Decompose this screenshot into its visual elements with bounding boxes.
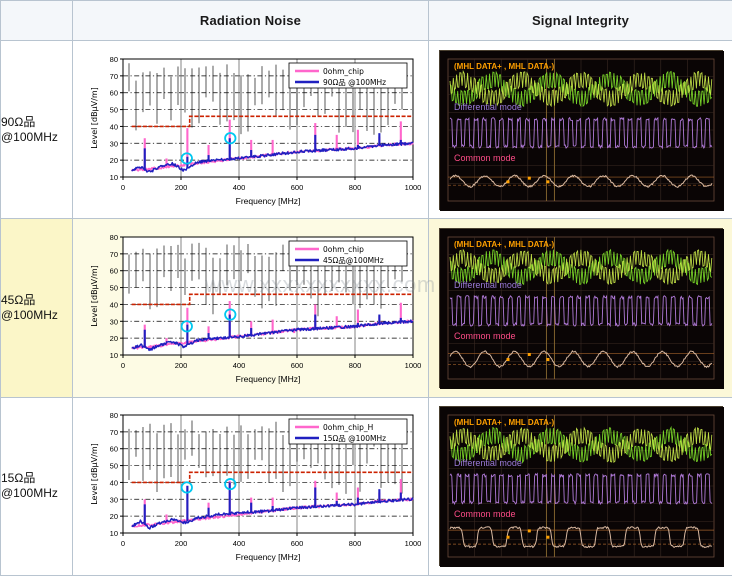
row-label-line1: 15Ω品 (1, 471, 72, 486)
x-tick-label: 800 (348, 539, 361, 548)
header-cell-radiation-noise: Radiation Noise (73, 1, 429, 41)
x-tick-label: 0 (120, 539, 124, 548)
chart-legend: 0ohm_chip_H15Ω品 @100MHz (289, 419, 407, 444)
row-label-45ohm: 45Ω品 @100MHz (1, 219, 73, 397)
chart-legend: 0ohm_chip90Ω品 @100MHz (289, 63, 407, 88)
x-tick-label: 400 (232, 539, 245, 548)
x-tick-label: 400 (232, 361, 245, 370)
x-tick-label: 1000 (404, 183, 420, 192)
y-tick-label: 50 (109, 105, 117, 114)
legend-label: 45Ω品@100MHz (323, 256, 384, 265)
radiation-noise-plot: 102030405060708002004006008001000Frequen… (81, 225, 421, 391)
table-row: 15Ω品 @100MHz 102030405060708002004006008… (1, 397, 732, 575)
y-tick-label: 80 (109, 55, 117, 64)
y-tick-label: 30 (109, 317, 117, 326)
y-tick-label: 40 (109, 300, 117, 309)
header-row: Radiation Noise Signal Integrity (1, 1, 732, 41)
y-tick-label: 80 (109, 411, 117, 420)
table-header: Radiation Noise Signal Integrity (1, 1, 732, 41)
row-label-line2: @100MHz (1, 130, 72, 145)
x-tick-label: 600 (290, 183, 303, 192)
y-axis-label: Level [dBμV/m] (90, 265, 99, 327)
radiation-noise-plot: 102030405060708002004006008001000Frequen… (81, 47, 421, 213)
oscilloscope-display: (MHL DATA+ , MHL DATA-)Differential mode… (440, 229, 724, 389)
x-axis-label: Frequency [MHz] (235, 374, 300, 384)
x-tick-label: 800 (348, 183, 361, 192)
x-tick-label: 1000 (404, 539, 420, 548)
legend-label: 0ohm_chip_H (323, 423, 373, 432)
x-tick-label: 600 (290, 361, 303, 370)
y-tick-label: 70 (109, 250, 117, 259)
row-label-90ohm: 90Ω品 @100MHz (1, 41, 73, 219)
radiation-noise-chart-90ohm: 102030405060708002004006008001000Frequen… (81, 47, 421, 213)
scope-label-common-mode: Common mode (454, 510, 516, 520)
oscilloscope-display: (MHL DATA+ , MHL DATA-)Differential mode… (440, 51, 724, 211)
x-tick-label: 0 (120, 361, 124, 370)
x-tick-label: 600 (290, 539, 303, 548)
row-label-line2: @100MHz (1, 308, 72, 323)
row-label-15ohm: 15Ω品 @100MHz (1, 397, 73, 575)
table-body: 90Ω品 @100MHz 102030405060708002004006008… (1, 41, 732, 576)
y-tick-label: 80 (109, 233, 117, 242)
y-tick-label: 30 (109, 139, 117, 148)
y-axis-label: Level [dBμV/m] (90, 444, 99, 506)
y-tick-label: 60 (109, 445, 117, 454)
table-row: 45Ω品 @100MHz 102030405060708002004006008… (1, 219, 732, 397)
radiation-noise-chart-45ohm: 102030405060708002004006008001000Frequen… (81, 225, 421, 391)
signal-integrity-cell-45ohm: (MHL DATA+ , MHL DATA-)Differential mode… (429, 219, 732, 397)
row-label-line1: 90Ω品 (1, 115, 72, 130)
y-tick-label: 70 (109, 72, 117, 81)
legend-label: 15Ω品 @100MHz (323, 434, 386, 443)
header-cell-condition (1, 1, 73, 41)
x-tick-label: 0 (120, 183, 124, 192)
legend-label: 90Ω品 @100MHz (323, 78, 386, 87)
oscilloscope-capture-90ohm: (MHL DATA+ , MHL DATA-)Differential mode… (439, 50, 723, 210)
y-tick-label: 40 (109, 122, 117, 131)
scope-label-differential-mode: Differential mode (454, 458, 522, 468)
header-cell-signal-integrity: Signal Integrity (429, 1, 732, 41)
x-tick-label: 200 (174, 361, 187, 370)
y-tick-label: 30 (109, 496, 117, 505)
y-tick-label: 10 (109, 173, 117, 182)
legend-label: 0ohm_chip (323, 245, 364, 254)
y-tick-label: 10 (109, 529, 117, 538)
row-label-line1: 45Ω品 (1, 293, 72, 308)
scope-label-differential-mode: Differential mode (454, 102, 522, 112)
x-tick-label: 1000 (404, 361, 420, 370)
scope-label-common-mode: Common mode (454, 153, 516, 163)
radiation-noise-plot: 102030405060708002004006008001000Frequen… (81, 403, 421, 569)
radiation-noise-cell-45ohm: 102030405060708002004006008001000Frequen… (73, 219, 429, 397)
x-tick-label: 200 (174, 183, 187, 192)
scope-label-mhl-data: (MHL DATA+ , MHL DATA-) (454, 240, 555, 249)
oscilloscope-capture-15ohm: (MHL DATA+ , MHL DATA-)Differential mode… (439, 406, 723, 566)
x-tick-label: 800 (348, 361, 361, 370)
y-tick-label: 60 (109, 88, 117, 97)
y-axis-label: Level [dBμV/m] (90, 87, 99, 149)
x-axis-label: Frequency [MHz] (235, 552, 300, 562)
radiation-noise-cell-90ohm: 102030405060708002004006008001000Frequen… (73, 41, 429, 219)
scope-label-common-mode: Common mode (454, 331, 516, 341)
row-label-line2: @100MHz (1, 486, 72, 501)
x-axis-label: Frequency [MHz] (235, 196, 300, 206)
y-tick-label: 50 (109, 462, 117, 471)
y-tick-label: 20 (109, 334, 117, 343)
scope-label-mhl-data: (MHL DATA+ , MHL DATA-) (454, 62, 555, 71)
x-tick-label: 200 (174, 539, 187, 548)
y-tick-label: 40 (109, 479, 117, 488)
signal-integrity-cell-15ohm: (MHL DATA+ , MHL DATA-)Differential mode… (429, 397, 732, 575)
y-tick-label: 50 (109, 284, 117, 293)
y-tick-label: 10 (109, 351, 117, 360)
y-tick-label: 20 (109, 156, 117, 165)
oscilloscope-display: (MHL DATA+ , MHL DATA-)Differential mode… (440, 407, 724, 567)
results-table: Radiation Noise Signal Integrity 90Ω品 @1… (0, 0, 732, 576)
legend-label: 0ohm_chip (323, 67, 364, 76)
signal-integrity-cell-90ohm: (MHL DATA+ , MHL DATA-)Differential mode… (429, 41, 732, 219)
comparison-matrix-page: Radiation Noise Signal Integrity 90Ω品 @1… (0, 0, 732, 576)
y-tick-label: 20 (109, 512, 117, 521)
oscilloscope-capture-45ohm: (MHL DATA+ , MHL DATA-)Differential mode… (439, 228, 723, 388)
x-tick-label: 400 (232, 183, 245, 192)
y-tick-label: 60 (109, 267, 117, 276)
scope-label-differential-mode: Differential mode (454, 280, 522, 290)
radiation-noise-cell-15ohm: 102030405060708002004006008001000Frequen… (73, 397, 429, 575)
table-row: 90Ω品 @100MHz 102030405060708002004006008… (1, 41, 732, 219)
radiation-noise-chart-15ohm: 102030405060708002004006008001000Frequen… (81, 403, 421, 569)
y-tick-label: 70 (109, 428, 117, 437)
scope-label-mhl-data: (MHL DATA+ , MHL DATA-) (454, 418, 555, 427)
chart-legend: 0ohm_chip45Ω品@100MHz (289, 241, 407, 266)
